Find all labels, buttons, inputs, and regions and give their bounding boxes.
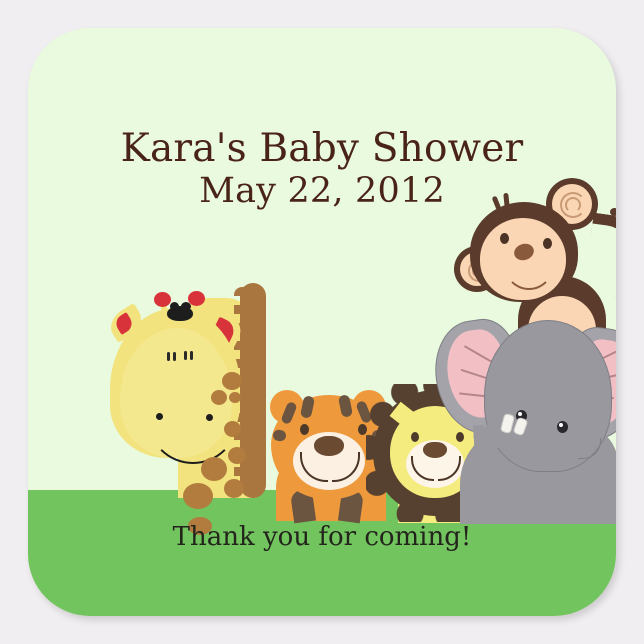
giraffe-spot [222,372,242,390]
lion-eye-left [411,432,419,442]
tiger-eye-left [300,424,309,435]
thank-you-message: Thank you for coming! [28,522,616,552]
elephant-eye-right [557,421,568,433]
lion-eye-right [456,432,464,442]
baby-shower-sticker: Kara's Baby Shower May 22, 2012 [28,28,616,616]
monkey-eye-right [543,238,552,249]
giraffe-spot [229,392,241,403]
sticker-canvas: Kara's Baby Shower May 22, 2012 [0,0,644,644]
giraffe-lash-4 [190,351,193,360]
monkey-eye-left [500,233,509,244]
giraffe-spot [201,457,227,481]
giraffe-lash-2 [173,352,176,361]
giraffe-spot [224,421,241,437]
giraffe-hair-tuft [167,306,193,321]
giraffe-ossicone-knob-left [154,292,171,307]
giraffe-spot [211,390,227,405]
giraffe-mane [240,283,266,498]
giraffe-spot [183,483,213,509]
giraffe-spot [228,447,246,464]
giraffe-spot [224,479,244,498]
giraffe-lash-1 [167,352,170,361]
monkey-ear-spiral-right-inner [565,197,581,213]
giraffe-lash-3 [184,351,187,360]
